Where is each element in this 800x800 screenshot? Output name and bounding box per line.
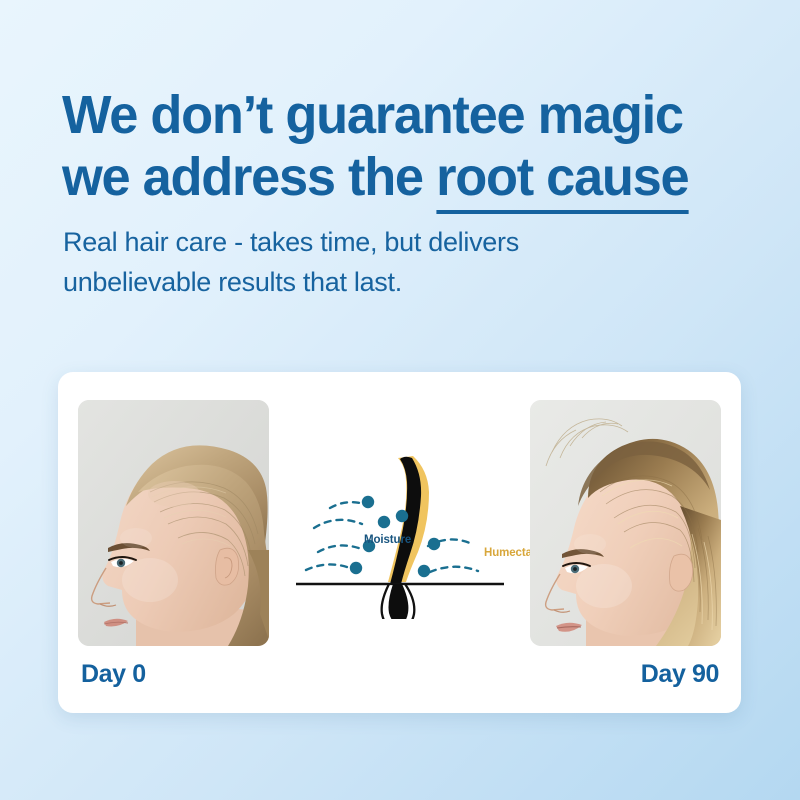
page-subtitle: Real hair care - takes time, but deliver… [63,222,703,302]
moisture-arcs-left [306,502,364,570]
hair-follicle-diagram: Moisture Humectants [288,434,513,619]
diagram-label-moisture: Moisture [364,534,411,546]
headline-line-2: we address the root cause [62,150,753,204]
before-day-label: Day 0 [81,660,146,689]
after-photo-canvas [530,400,721,646]
after-photo [530,400,721,646]
page-headline: We don’t guarantee magic we address the … [62,88,774,204]
subtitle-line-1: Real hair care - takes time, but deliver… [63,222,703,262]
before-photo-canvas [78,400,269,646]
before-after-comparison-card: Moisture Humectants [58,372,741,713]
before-photo [78,400,269,646]
follicle-diagram-canvas [288,434,513,619]
after-day-label: Day 90 [641,660,719,689]
headline-line-1: We don’t guarantee magic [62,88,753,142]
headline-line-2-prefix: we address the [62,147,436,207]
headline-emphasis-root-cause: root cause [436,147,688,214]
subtitle-line-2: unbelievable results that last. [63,262,703,302]
